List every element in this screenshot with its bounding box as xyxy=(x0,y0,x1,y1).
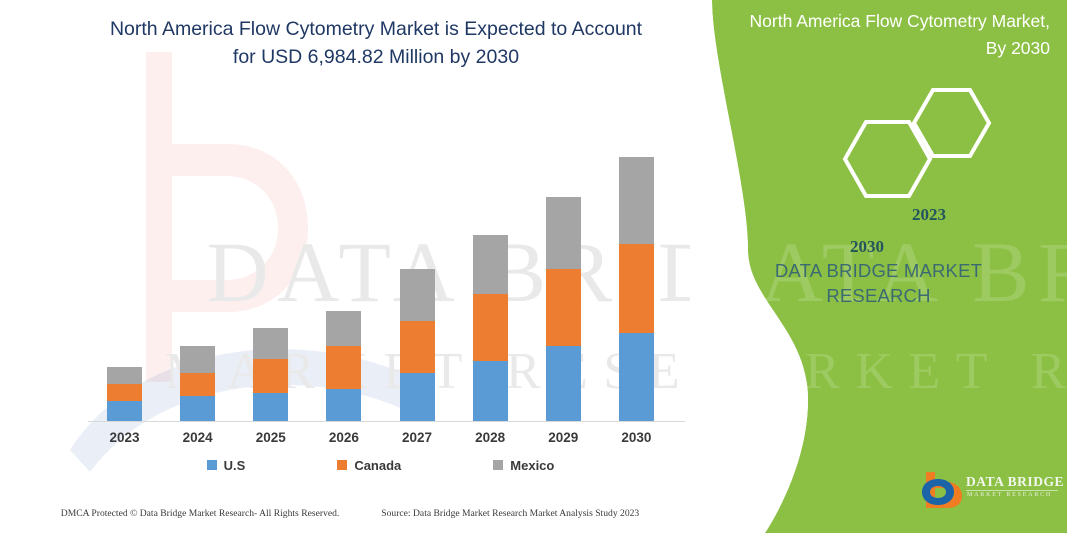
bar-segment-mexico xyxy=(473,235,508,294)
stacked-bar xyxy=(326,311,361,421)
bar-segment-canada xyxy=(400,321,435,373)
bar-segment-canada xyxy=(619,244,654,333)
legend-item[interactable]: U.S xyxy=(207,458,246,473)
hexagon-outlines xyxy=(690,78,1067,218)
chart-legend: U.SCanadaMexico xyxy=(88,455,673,475)
panel-brand: DATA BRIDGE MARKET RESEARCH xyxy=(727,258,1030,308)
legend-swatch-icon xyxy=(493,460,503,470)
panel-title: North America Flow Cytometry Market, By … xyxy=(720,8,1050,62)
bar-segment-canada xyxy=(326,346,361,389)
bar-segment-canada xyxy=(107,384,142,401)
logo-b-icon xyxy=(920,470,964,510)
x-tick-label: 2025 xyxy=(234,430,307,452)
legend-label: U.S xyxy=(224,458,246,473)
stacked-bar-chart xyxy=(88,120,673,422)
legend-label: Canada xyxy=(354,458,401,473)
bar-segment-mexico xyxy=(253,328,288,359)
bar-column xyxy=(88,120,161,421)
logo-divider xyxy=(966,490,1058,491)
page-title: North America Flow Cytometry Market is E… xyxy=(56,15,696,71)
bar-segment-mexico xyxy=(619,157,654,244)
company-logo: DATA BRIDGE MARKET RESEARCH xyxy=(920,470,1060,512)
panel-brand-line-2: RESEARCH xyxy=(727,283,1030,308)
chart-bars xyxy=(88,120,673,421)
hexagon-2030-label: 2030 xyxy=(850,237,884,257)
x-tick-label: 2026 xyxy=(307,430,380,452)
bar-segment-us xyxy=(473,361,508,421)
bar-segment-canada xyxy=(253,359,288,393)
stacked-bar xyxy=(473,235,508,421)
bar-segment-canada xyxy=(473,294,508,361)
footer-source: Source: Data Bridge Market Research Mark… xyxy=(381,508,639,530)
bar-column xyxy=(161,120,234,421)
bar-segment-mexico xyxy=(326,311,361,346)
bar-segment-us xyxy=(546,346,581,421)
chart-plot-area xyxy=(88,120,673,422)
x-tick-label: 2027 xyxy=(381,430,454,452)
stacked-bar xyxy=(107,367,142,421)
stacked-bar xyxy=(400,269,435,421)
bar-column xyxy=(381,120,454,421)
bar-segment-us xyxy=(180,396,215,421)
hexagon-2023-shape xyxy=(914,90,989,156)
bar-segment-canada xyxy=(546,269,581,346)
legend-label: Mexico xyxy=(510,458,554,473)
x-tick-label: 2023 xyxy=(88,430,161,452)
x-tick-label: 2024 xyxy=(161,430,234,452)
panel-brand-line-1: DATA BRIDGE MARKET xyxy=(727,258,1030,283)
footer-copyright: DMCA Protected © Data Bridge Market Rese… xyxy=(61,508,340,530)
bar-column xyxy=(527,120,600,421)
stacked-bar xyxy=(180,346,215,421)
logo-title: DATA BRIDGE xyxy=(966,474,1064,490)
bar-segment-us xyxy=(107,401,142,421)
x-tick-label: 2029 xyxy=(527,430,600,452)
legend-swatch-icon xyxy=(337,460,347,470)
right-green-panel: DATA BRIDGE MARKET RESEARCH North Americ… xyxy=(690,0,1067,533)
bar-segment-mexico xyxy=(546,197,581,269)
stacked-bar xyxy=(619,157,654,421)
x-tick-label: 2028 xyxy=(454,430,527,452)
panel-title-line-2: By 2030 xyxy=(720,35,1050,62)
x-tick-label: 2030 xyxy=(600,430,673,452)
footer: DMCA Protected © Data Bridge Market Rese… xyxy=(0,508,700,530)
x-axis-line xyxy=(88,421,685,422)
bar-segment-us xyxy=(619,333,654,421)
logo-subtitle: MARKET RESEARCH xyxy=(967,492,1052,498)
infographic-root: DATA BRIDGE MARKET RESEARCH North Americ… xyxy=(0,0,1067,533)
bar-segment-mexico xyxy=(180,346,215,373)
page-title-line-1: North America Flow Cytometry Market is E… xyxy=(56,15,696,43)
hexagon-2030-shape xyxy=(845,122,930,196)
panel-title-line-1: North America Flow Cytometry Market, xyxy=(720,8,1050,35)
bar-segment-us xyxy=(400,373,435,421)
hexagon-2023-label: 2023 xyxy=(912,205,946,225)
legend-item[interactable]: Mexico xyxy=(493,458,554,473)
bar-segment-canada xyxy=(180,373,215,396)
hexagon-group: 2023 2030 xyxy=(690,78,1067,218)
stacked-bar xyxy=(253,328,288,421)
bar-column xyxy=(454,120,527,421)
bar-segment-mexico xyxy=(107,367,142,384)
x-axis-tick-labels: 20232024202520262027202820292030 xyxy=(88,430,673,452)
legend-swatch-icon xyxy=(207,460,217,470)
bar-segment-us xyxy=(326,389,361,421)
bar-segment-us xyxy=(253,393,288,421)
stacked-bar xyxy=(546,197,581,421)
bar-column xyxy=(307,120,380,421)
bar-segment-mexico xyxy=(400,269,435,321)
page-title-line-2: for USD 6,984.82 Million by 2030 xyxy=(56,43,696,71)
legend-item[interactable]: Canada xyxy=(337,458,401,473)
bar-column xyxy=(600,120,673,421)
bar-column xyxy=(234,120,307,421)
